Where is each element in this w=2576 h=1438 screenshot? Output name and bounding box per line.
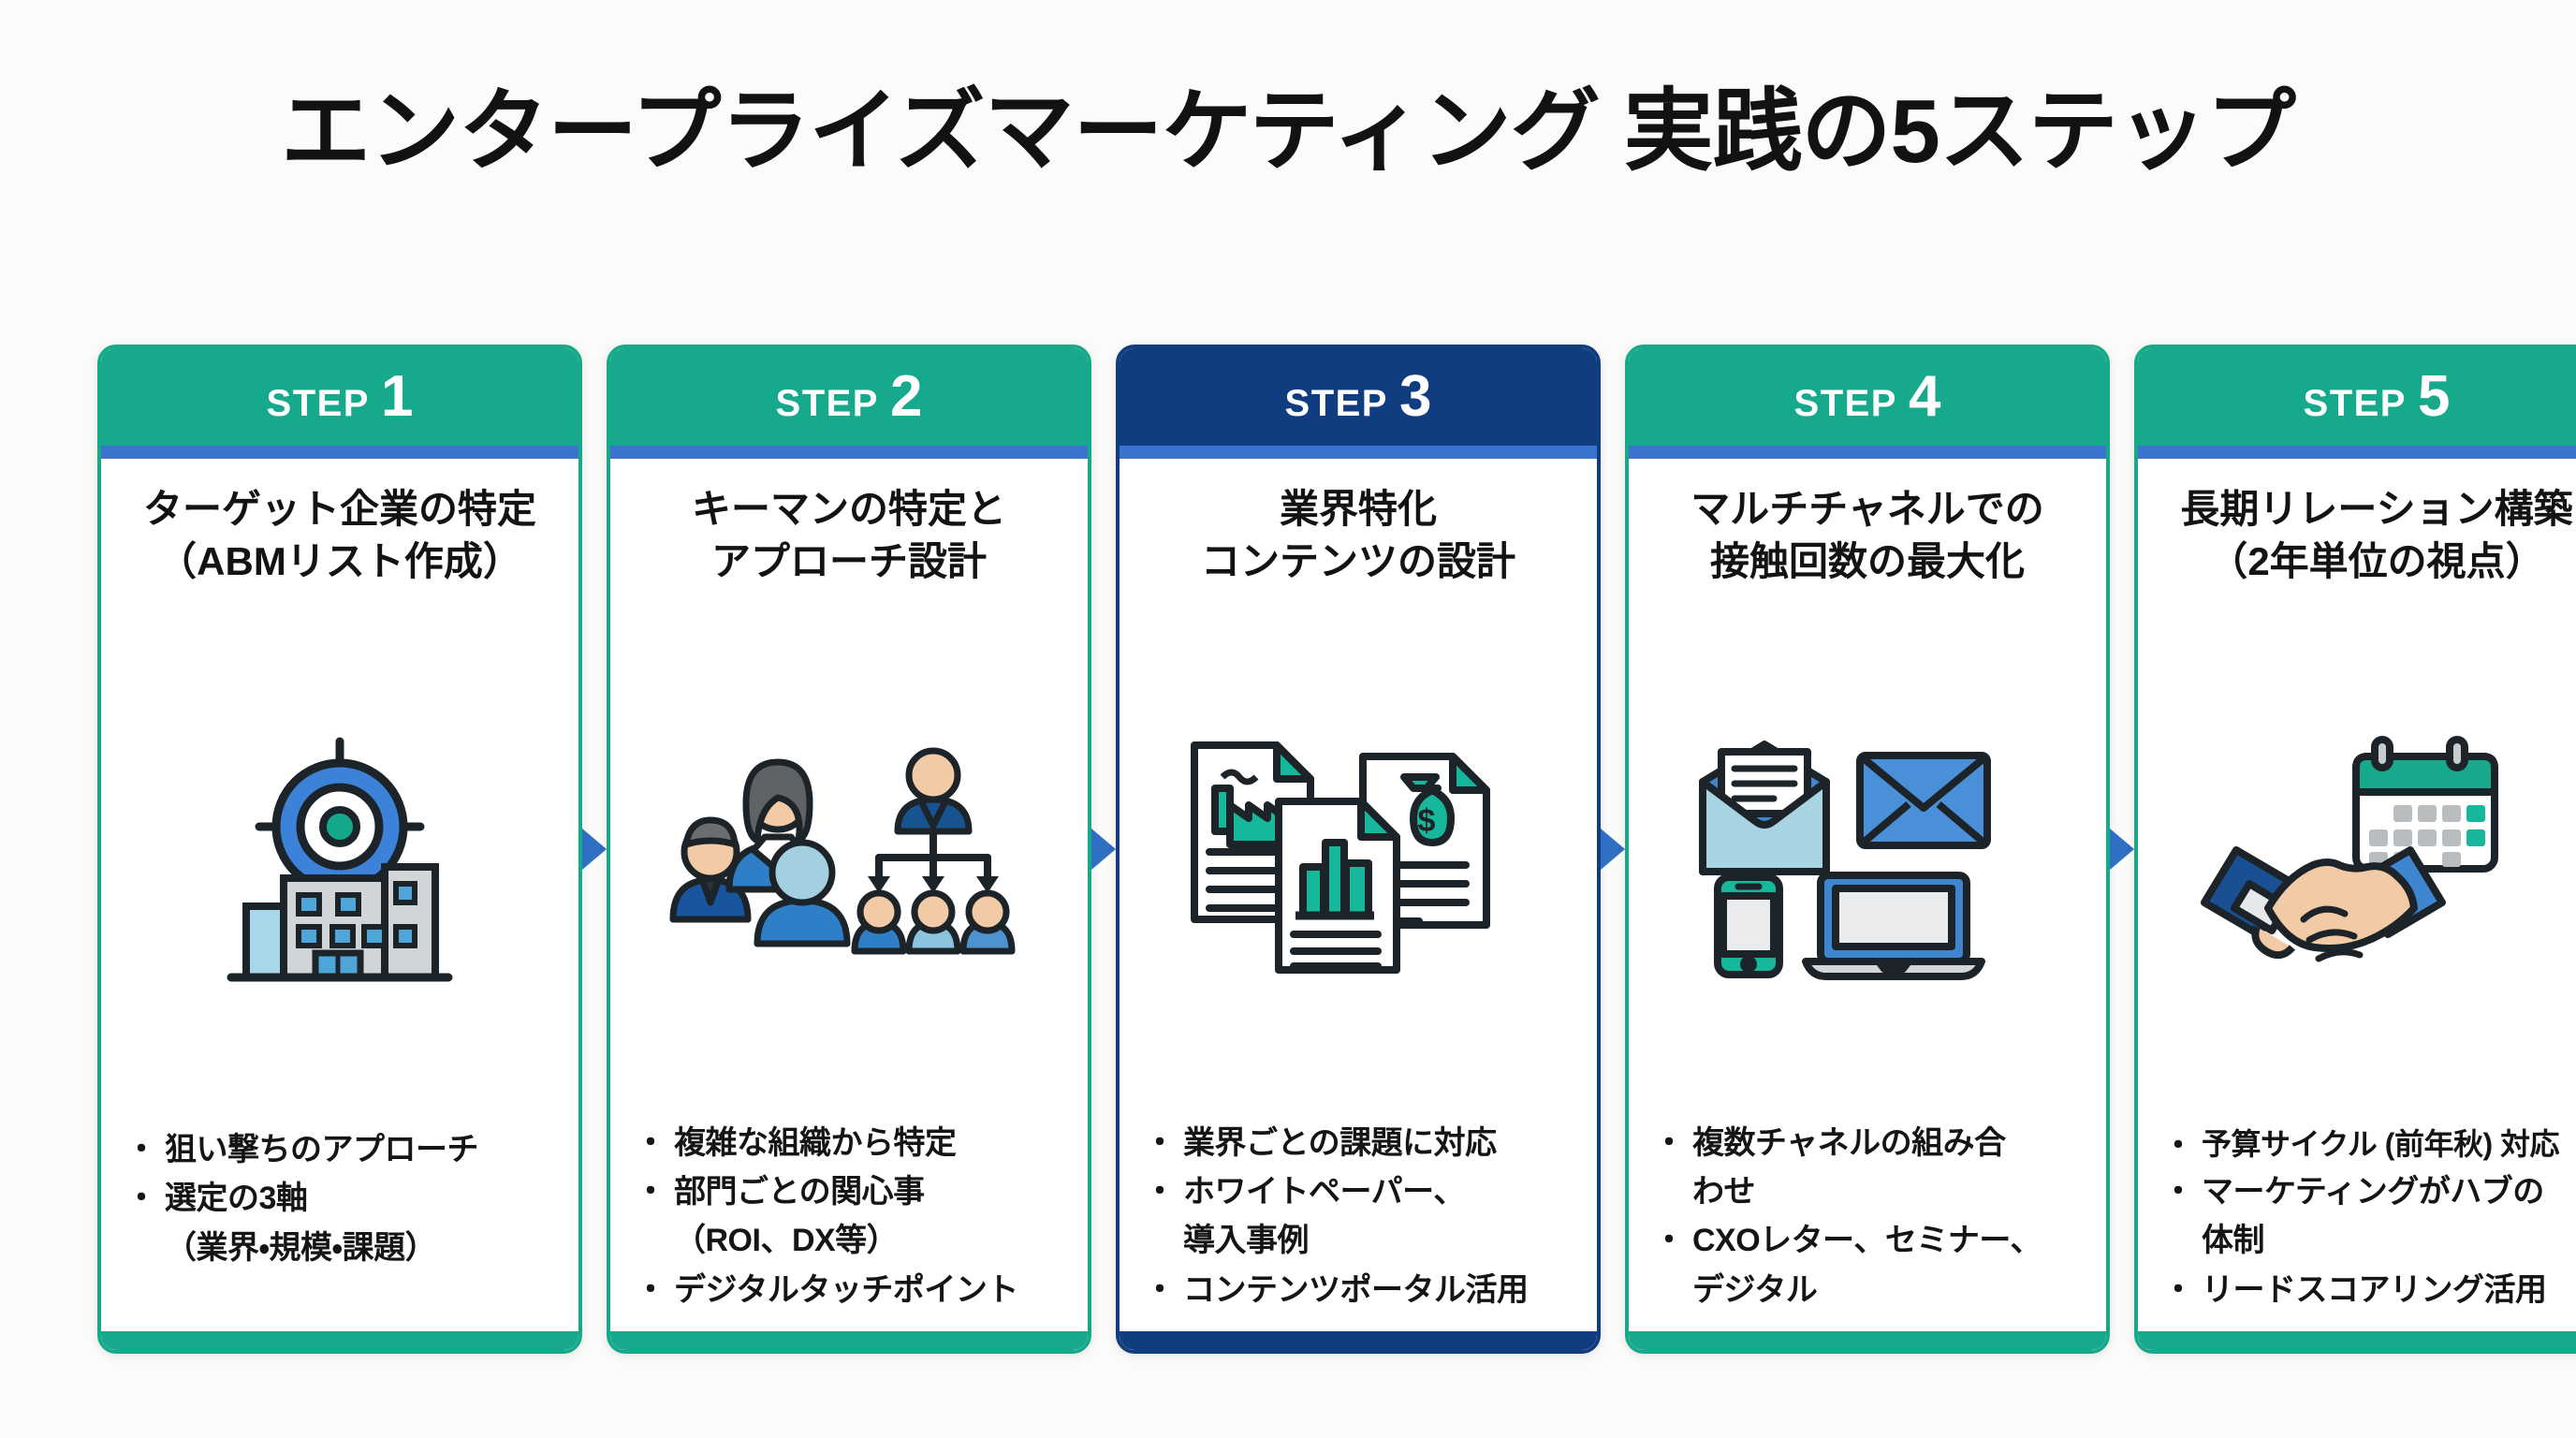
connector-3-4 <box>1601 345 1625 1354</box>
list-item-cont: 導入事例 <box>1148 1218 1574 1263</box>
step-title-line1-3: 業界特化 <box>1138 483 1578 536</box>
list-item-cont: デジタル <box>1657 1268 2084 1313</box>
list-item: コンテンツポータル活用 <box>1148 1268 1574 1313</box>
step-header-4: STEP 4 <box>1629 348 2106 446</box>
arrow-right-icon <box>1601 829 1625 870</box>
arrow-right-icon <box>2110 829 2134 870</box>
step-body-5: 長期リレーション構築 （2年単位の視点） <box>2138 459 2576 1350</box>
arrow-right-icon <box>582 829 607 870</box>
list-item: 部門ごとの関心事 <box>638 1169 1065 1214</box>
step-number-4: 4 <box>1909 368 1940 426</box>
list-item-cont: （業界・規模・課題） <box>129 1225 556 1270</box>
list-item: 業界ごとの課題に対応 <box>1148 1121 1574 1166</box>
step-body-4: マルチチャネルでの 接触回数の最大化 <box>1629 459 2106 1350</box>
step-bullets-1: 狙い撃ちのアプローチ 選定の3軸 （業界・規模・課題） <box>120 1127 560 1333</box>
infographic-root: エンタープライズマーケティング 実践の5ステップ STEP 1 ターゲット企業の… <box>0 0 2576 1438</box>
header-rule-4 <box>1629 446 2106 459</box>
connector-4-5 <box>2110 345 2134 1354</box>
documents-industry-icon: $ <box>1138 594 1578 1121</box>
list-item: 複数チャネルの組み合 <box>1657 1121 2084 1166</box>
mail-devices-icon <box>1647 594 2087 1121</box>
arrow-right-icon <box>1091 829 1116 870</box>
list-item: ホワイトペーパー、 <box>1148 1169 1574 1214</box>
step-bullets-2: 複雑な組織から特定 部門ごとの関心事 （ROI、DX等） デジタルタッチポイント <box>629 1121 1069 1333</box>
list-item-cont: 体制 <box>2166 1218 2576 1263</box>
step-header-5: STEP 5 <box>2138 348 2576 446</box>
list-item: 選定の3軸 <box>129 1176 556 1221</box>
target-building-icon <box>120 594 560 1127</box>
step-header-2: STEP 2 <box>610 348 1088 446</box>
connector-2-3 <box>1091 345 1116 1354</box>
step-title-4: マルチチャネルでの 接触回数の最大化 <box>1647 483 2087 594</box>
step-body-1: ターゲット企業の特定 （ABMリスト作成） <box>101 459 578 1350</box>
step-title-line2-1: （ABMリスト作成） <box>120 536 560 588</box>
step-title-line2-3: コンテンツの設計 <box>1138 536 1578 588</box>
step-card-slot-2: STEP 2 キーマンの特定と アプローチ設計 <box>607 345 1091 1354</box>
step-title-line1-2: キーマンの特定と <box>629 483 1069 536</box>
step-number-2: 2 <box>890 368 922 426</box>
step-footer-bar-5 <box>2138 1331 2576 1350</box>
list-item: デジタルタッチポイント <box>638 1268 1065 1313</box>
step-title-1: ターゲット企業の特定 （ABMリスト作成） <box>120 483 560 594</box>
step-body-3: 業界特化 コンテンツの設計 <box>1120 459 1597 1350</box>
step-card-5[interactable]: STEP 5 長期リレーション構築 （2年単位の視点） <box>2134 345 2576 1354</box>
step-title-line2-4: 接触回数の最大化 <box>1647 536 2087 588</box>
step-footer-bar-1 <box>101 1331 578 1350</box>
step-word-2: STEP <box>776 383 879 425</box>
step-card-3[interactable]: STEP 3 業界特化 コンテンツの設計 <box>1116 345 1601 1354</box>
list-item: リードスコアリング活用 <box>2166 1268 2576 1313</box>
step-bullets-5: 予算サイクル (前年秋) 対応 マーケティングがハブの 体制 リードスコアリング… <box>2157 1123 2576 1333</box>
step-number-1: 1 <box>381 368 413 426</box>
connector-1-2 <box>582 345 607 1354</box>
step-card-slot-3: STEP 3 業界特化 コンテンツの設計 <box>1116 345 1601 1354</box>
step-word-4: STEP <box>1794 383 1897 425</box>
step-header-1: STEP 1 <box>101 348 578 446</box>
step-label-5: STEP 5 <box>2304 368 2451 426</box>
step-word-3: STEP <box>1285 383 1388 425</box>
list-item: 複雑な組織から特定 <box>638 1121 1065 1166</box>
step-word-5: STEP <box>2304 383 2407 425</box>
people-orgchart-icon <box>629 594 1069 1121</box>
step-title-line2-5: （2年単位の視点） <box>2157 536 2576 588</box>
handshake-calendar-icon <box>2157 594 2576 1123</box>
list-item: 狙い撃ちのアプローチ <box>129 1127 556 1172</box>
list-item: マーケティングがハブの <box>2166 1169 2576 1214</box>
step-card-slot-5: STEP 5 長期リレーション構築 （2年単位の視点） <box>2134 345 2576 1354</box>
header-rule-2 <box>610 446 1088 459</box>
step-card-1[interactable]: STEP 1 ターゲット企業の特定 （ABMリスト作成） <box>97 345 582 1354</box>
step-label-1: STEP 1 <box>267 368 414 426</box>
list-item-cont: わせ <box>1657 1169 2084 1214</box>
step-body-2: キーマンの特定と アプローチ設計 <box>610 459 1088 1350</box>
step-label-4: STEP 4 <box>1794 368 1941 426</box>
steps-rail: STEP 1 ターゲット企業の特定 （ABMリスト作成） <box>97 345 2479 1354</box>
step-card-2[interactable]: STEP 2 キーマンの特定と アプローチ設計 <box>607 345 1091 1354</box>
step-header-3: STEP 3 <box>1120 348 1597 446</box>
step-title-2: キーマンの特定と アプローチ設計 <box>629 483 1069 594</box>
step-footer-bar-2 <box>610 1331 1088 1350</box>
step-title-line1-1: ターゲット企業の特定 <box>120 483 560 536</box>
svg-text:$: $ <box>1418 803 1436 839</box>
step-card-slot-1: STEP 1 ターゲット企業の特定 （ABMリスト作成） <box>97 345 582 1354</box>
step-number-5: 5 <box>2418 368 2450 426</box>
step-title-line1-4: マルチチャネルでの <box>1647 483 2087 536</box>
step-card-slot-4: STEP 4 マルチチャネルでの 接触回数の最大化 <box>1625 345 2110 1354</box>
step-word-1: STEP <box>267 383 370 425</box>
page-title: エンタープライズマーケティング 実践の5ステップ <box>0 81 2576 183</box>
list-item-cont: （ROI、DX等） <box>638 1218 1065 1263</box>
step-title-line1-5: 長期リレーション構築 <box>2157 483 2576 536</box>
list-item: CXOレター、セミナー、 <box>1657 1218 2084 1263</box>
header-rule-5 <box>2138 446 2576 459</box>
step-title-5: 長期リレーション構築 （2年単位の視点） <box>2157 483 2576 594</box>
step-bullets-4: 複数チャネルの組み合 わせ CXOレター、セミナー、 デジタル <box>1647 1121 2087 1333</box>
step-number-3: 3 <box>1399 368 1431 426</box>
step-label-3: STEP 3 <box>1285 368 1432 426</box>
step-title-3: 業界特化 コンテンツの設計 <box>1138 483 1578 594</box>
step-label-2: STEP 2 <box>776 368 923 426</box>
step-card-4[interactable]: STEP 4 マルチチャネルでの 接触回数の最大化 <box>1625 345 2110 1354</box>
step-footer-bar-4 <box>1629 1331 2106 1350</box>
step-bullets-3: 業界ごとの課題に対応 ホワイトペーパー、 導入事例 コンテンツポータル活用 <box>1138 1121 1578 1333</box>
step-footer-bar-3 <box>1120 1331 1597 1350</box>
page-title-text: エンタープライズマーケティング 実践の5ステップ <box>0 81 2576 183</box>
header-rule-1 <box>101 446 578 459</box>
header-rule-3 <box>1120 446 1597 459</box>
list-item: 予算サイクル (前年秋) 対応 <box>2166 1123 2576 1166</box>
step-title-line2-2: アプローチ設計 <box>629 536 1069 588</box>
